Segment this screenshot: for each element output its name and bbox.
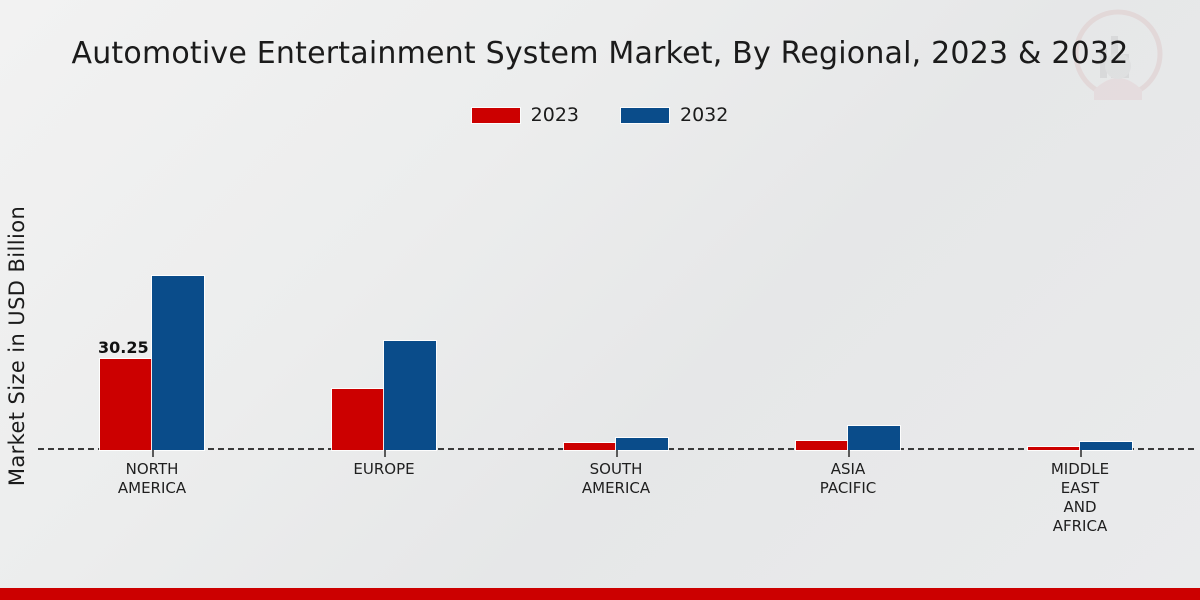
chart-page: Automotive Entertainment System Market, … — [0, 0, 1200, 600]
bar-group-south-america: SOUTH AMERICA — [500, 140, 732, 450]
legend-label-2032: 2032 — [680, 104, 728, 126]
legend-swatch-2032 — [621, 108, 669, 123]
chart-legend: 2023 2032 — [0, 104, 1200, 126]
bar-groups: 30.25 NORTH AMERICA EUROPE — [36, 140, 1196, 450]
bar-group-middle-east-and-africa: MIDDLE EAST AND AFRICA — [964, 140, 1196, 450]
x-label-line: AMERICA — [36, 479, 268, 498]
x-tick-middle-east-and-africa — [1080, 450, 1082, 457]
bars-north-america: 30.25 — [100, 276, 204, 450]
bar-2023-europe[interactable] — [332, 389, 384, 450]
bars-europe — [332, 341, 436, 450]
bar-2023-north-america[interactable]: 30.25 — [100, 359, 152, 450]
bar-2023-middle-east-and-africa[interactable] — [1028, 447, 1080, 450]
bar-value-2023-north-america: 30.25 — [98, 338, 149, 357]
x-label-line: NORTH — [36, 460, 268, 479]
legend-label-2023: 2023 — [531, 104, 579, 126]
bars-south-america — [564, 438, 668, 450]
bar-group-north-america: 30.25 NORTH AMERICA — [36, 140, 268, 450]
x-label-asia-pacific: ASIA PACIFIC — [732, 460, 964, 498]
bar-group-europe: EUROPE — [268, 140, 500, 450]
bar-group-asia-pacific: ASIA PACIFIC — [732, 140, 964, 450]
bar-2032-south-america[interactable] — [616, 438, 668, 450]
bar-2032-asia-pacific[interactable] — [848, 426, 900, 450]
x-tick-north-america — [152, 450, 154, 457]
bars-asia-pacific — [796, 426, 900, 450]
x-label-middle-east-and-africa: MIDDLE EAST AND AFRICA — [964, 460, 1196, 536]
x-tick-europe — [384, 450, 386, 457]
y-axis-title: Market Size in USD Billion — [2, 176, 32, 516]
x-label-south-america: SOUTH AMERICA — [500, 460, 732, 498]
x-label-line: MIDDLE — [964, 460, 1196, 479]
x-tick-south-america — [616, 450, 618, 457]
x-label-line: AMERICA — [500, 479, 732, 498]
legend-item-2032[interactable]: 2032 — [621, 104, 728, 126]
x-label-europe: EUROPE — [268, 460, 500, 479]
x-label-line: EAST — [964, 479, 1196, 498]
bars-middle-east-and-africa — [1028, 442, 1132, 450]
bar-2023-south-america[interactable] — [564, 443, 616, 450]
footer-accent-bar — [0, 588, 1200, 600]
bar-2032-europe[interactable] — [384, 341, 436, 450]
bar-2032-middle-east-and-africa[interactable] — [1080, 442, 1132, 450]
x-label-line: AFRICA — [964, 517, 1196, 536]
plot-area: 30.25 NORTH AMERICA EUROPE — [36, 140, 1196, 450]
x-label-line: AND — [964, 498, 1196, 517]
y-axis-title-text: Market Size in USD Billion — [5, 206, 29, 486]
x-label-line: EUROPE — [268, 460, 500, 479]
x-label-line: ASIA — [732, 460, 964, 479]
legend-item-2023[interactable]: 2023 — [472, 104, 579, 126]
bar-2023-asia-pacific[interactable] — [796, 441, 848, 450]
x-label-line: SOUTH — [500, 460, 732, 479]
x-label-north-america: NORTH AMERICA — [36, 460, 268, 498]
chart-title: Automotive Entertainment System Market, … — [0, 36, 1200, 71]
legend-swatch-2023 — [472, 108, 520, 123]
x-label-line: PACIFIC — [732, 479, 964, 498]
bar-2032-north-america[interactable] — [152, 276, 204, 450]
x-tick-asia-pacific — [848, 450, 850, 457]
